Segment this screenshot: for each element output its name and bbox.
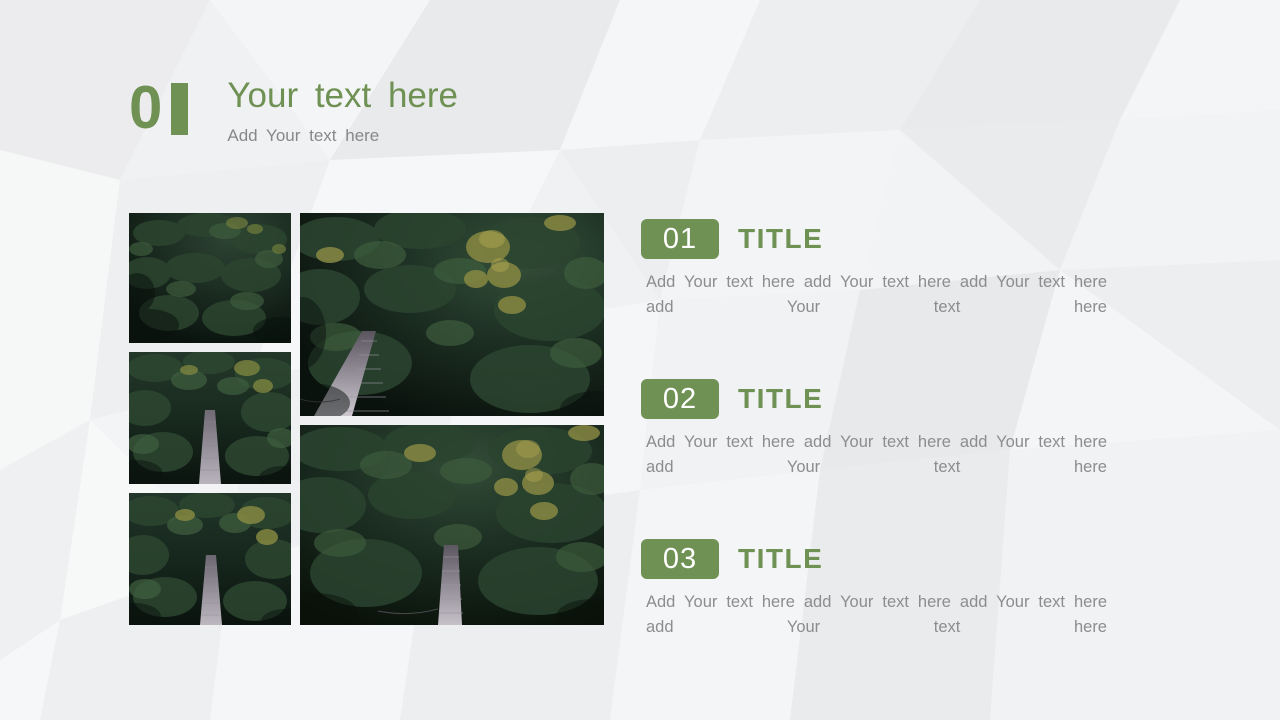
- content-item-03-body: Add Your text here add Your text here ad…: [646, 590, 1107, 665]
- header-number-group: 0: [129, 78, 188, 138]
- content-item-03: 03 TITLE Add Your text here add Your tex…: [641, 539, 1107, 665]
- content-list: 01 TITLE Add Your text here add Your tex…: [641, 219, 1107, 665]
- page-title: Your text here: [227, 74, 458, 118]
- header-number-zero: 0: [129, 78, 162, 138]
- content-item-03-header: 03 TITLE: [641, 539, 1107, 579]
- header-text-group: Your text here Add Your text here: [227, 74, 458, 147]
- header-number-one-bar: [171, 83, 188, 135]
- content-item-02: 02 TITLE Add Your text here add Your tex…: [641, 379, 1107, 505]
- photo-gallery: [129, 213, 604, 625]
- gallery-photo-bridge-narrow-upper[interactable]: [129, 352, 291, 484]
- content-item-02-header: 02 TITLE: [641, 379, 1107, 419]
- gallery-photo-bridge-narrow-lower[interactable]: [129, 493, 291, 625]
- content-item-02-badge: 02: [641, 379, 719, 419]
- slide-header: 0 Your text here Add Your text here: [129, 78, 458, 147]
- gallery-column-left: [129, 213, 291, 625]
- content-item-01-title: TITLE: [738, 224, 823, 254]
- slide: 0 Your text here Add Your text here: [0, 0, 1280, 720]
- content-item-01-body: Add Your text here add Your text here ad…: [646, 270, 1107, 345]
- content-item-02-title: TITLE: [738, 384, 823, 414]
- content-item-03-badge: 03: [641, 539, 719, 579]
- content-item-01-badge: 01: [641, 219, 719, 259]
- gallery-photo-bridge-wide-upper[interactable]: [300, 213, 604, 416]
- page-subtitle: Add Your text here: [227, 125, 458, 147]
- content-item-01-header: 01 TITLE: [641, 219, 1107, 259]
- gallery-column-right: [300, 213, 604, 625]
- content-item-03-title: TITLE: [738, 544, 823, 574]
- gallery-photo-forest-canopy-dark[interactable]: [129, 213, 291, 343]
- content-item-02-body: Add Your text here add Your text here ad…: [646, 430, 1107, 505]
- gallery-photo-bridge-wide-lower[interactable]: [300, 425, 604, 625]
- content-item-01: 01 TITLE Add Your text here add Your tex…: [641, 219, 1107, 345]
